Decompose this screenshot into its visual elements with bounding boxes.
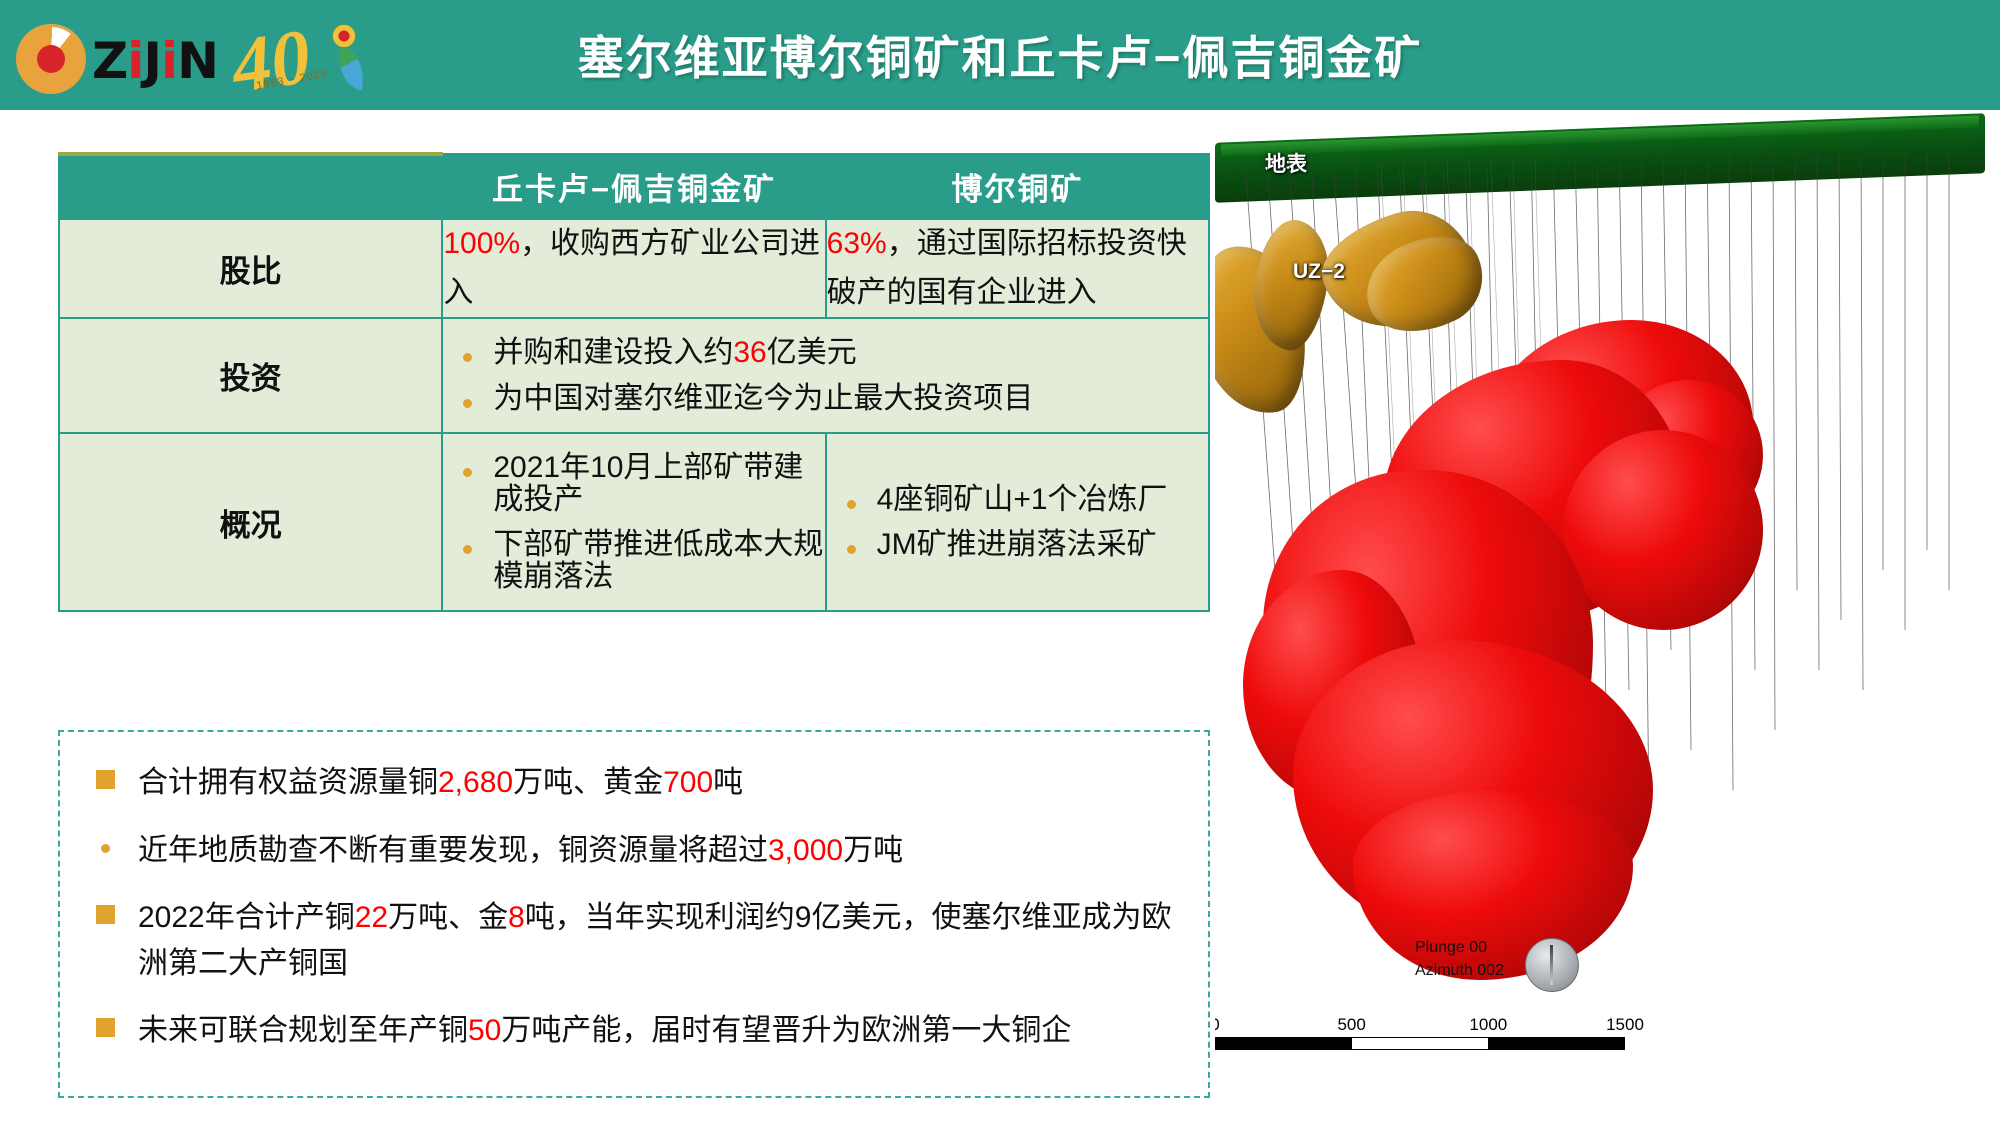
table-row: 投资 并购和建设投入约36亿美元 为中国对塞尔维亚迄今为止最大投资项目	[59, 318, 1209, 433]
row-label-equity: 股比	[59, 219, 442, 318]
overview-cukaru-list: 2021年10月上部矿带建成投产 下部矿带推进低成本大规模崩落法	[443, 434, 824, 610]
cell-investment: 并购和建设投入约36亿美元 为中国对塞尔维亚迄今为止最大投资项目	[442, 318, 1209, 433]
cell-overview-bor: 4座铜矿山+1个冶炼厂 JM矿推进崩落法采矿	[826, 433, 1209, 611]
list-item: 4座铜矿山+1个冶炼厂	[833, 484, 1208, 516]
row-label-investment: 投资	[59, 318, 442, 433]
list-item: 近年地质勘查不断有重要发现，铜资源量将超过3,000万吨	[82, 828, 1192, 874]
table-col-cukaru: 丘卡卢−佩吉铜金矿	[442, 154, 825, 219]
anniversary-emblem-icon: 40 1983 ~ 2023	[232, 12, 372, 108]
table-row: 概况 2021年10月上部矿带建成投产 下部矿带推进低成本大规模崩落法 4座铜矿…	[59, 433, 1209, 611]
table-header-row: 丘卡卢−佩吉铜金矿 博尔铜矿	[59, 154, 1209, 219]
scale-tick: 500	[1337, 1015, 1365, 1035]
investment-bullet-list: 并购和建设投入约36亿美元 为中国对塞尔维亚迄今为止最大投资项目	[443, 319, 1208, 432]
list-item: 合计拥有权益资源量铜2,680万吨、黄金700吨	[82, 760, 1192, 806]
leaf-icon	[332, 45, 370, 90]
overview-bor-list: 4座铜矿山+1个冶炼厂 JM矿推进崩落法采矿	[827, 466, 1208, 579]
list-item: 2022年合计产铜22万吨、金8吨，当年实现利润约9亿美元，使塞尔维亚成为欧洲第…	[82, 895, 1192, 986]
compass-icon	[1525, 938, 1579, 992]
scale-tick: 1000	[1469, 1015, 1507, 1035]
cell-equity-cukaru: 100%，收购西方矿业公司进入	[442, 219, 825, 318]
scale-tick: 1500	[1606, 1015, 1644, 1035]
list-item: 下部矿带推进低成本大规模崩落法	[449, 529, 824, 592]
lower-orebody	[1233, 320, 1773, 900]
list-item: JM矿推进崩落法采矿	[833, 529, 1208, 561]
anniversary-number: 40	[226, 11, 316, 111]
table-col-blank	[59, 154, 442, 219]
plunge-value: Plunge 00	[1415, 936, 1504, 959]
left-content-panel: 丘卡卢−佩吉铜金矿 博尔铜矿 股比 100%，收购西方矿业公司进入 63%，通过…	[0, 110, 1215, 1125]
summary-note-box: 合计拥有权益资源量铜2,680万吨、黄金700吨近年地质勘查不断有重要发现，铜资…	[58, 730, 1210, 1098]
cell-equity-bor: 63%，通过国际招标投资快破产的国有企业进入	[826, 219, 1209, 318]
zijin-wordmark: ZiJiN	[92, 32, 218, 90]
list-item: 为中国对塞尔维亚迄今为止最大投资项目	[449, 383, 1208, 415]
orebody-lobe	[1563, 430, 1763, 630]
list-item: 未来可联合规划至年产铜50万吨产能，届时有望晋升为欧洲第一大铜企	[82, 1008, 1192, 1054]
comparison-table: 丘卡卢−佩吉铜金矿 博尔铜矿 股比 100%，收购西方矿业公司进入 63%，通过…	[58, 152, 1210, 612]
summary-bullet-list: 合计拥有权益资源量铜2,680万吨、黄金700吨近年地质勘查不断有重要发现，铜资…	[60, 732, 1208, 1054]
cell-overview-cukaru: 2021年10月上部矿带建成投产 下部矿带推进低成本大规模崩落法	[442, 433, 825, 611]
scale-bar: 050010001500	[1215, 1015, 1635, 1075]
orebody-3d-model: 地表 上部矿带 UZ−2	[1215, 110, 2000, 1125]
equity-cukaru-value: 100%	[443, 227, 520, 260]
list-item: 并购和建设投入约36亿美元	[449, 337, 1208, 369]
row-label-overview: 概况	[59, 433, 442, 611]
uz2-label: UZ−2	[1293, 260, 1345, 284]
list-item: 2021年10月上部矿带建成投产	[449, 452, 824, 515]
sphere-icon	[332, 24, 356, 48]
zijin-logo: ZiJiN 40 1983 ~ 2023	[10, 8, 380, 103]
table-col-bor: 博尔铜矿	[826, 154, 1209, 219]
equity-bor-value: 63%	[827, 227, 887, 260]
orientation-readout: Plunge 00 Azimuth 002	[1415, 936, 1504, 982]
scale-bar-segments	[1215, 1037, 1625, 1050]
azimuth-value: Azimuth 002	[1415, 959, 1504, 982]
slide-header: ZiJiN 40 1983 ~ 2023 塞尔维亚博尔铜矿和丘卡卢−佩吉铜金矿	[0, 0, 2000, 110]
zijin-circle-logo-icon	[16, 24, 86, 94]
table-row: 股比 100%，收购西方矿业公司进入 63%，通过国际招标投资快破产的国有企业进…	[59, 219, 1209, 318]
scale-tick-labels: 050010001500	[1215, 1015, 1645, 1035]
scale-tick: 0	[1215, 1015, 1220, 1035]
